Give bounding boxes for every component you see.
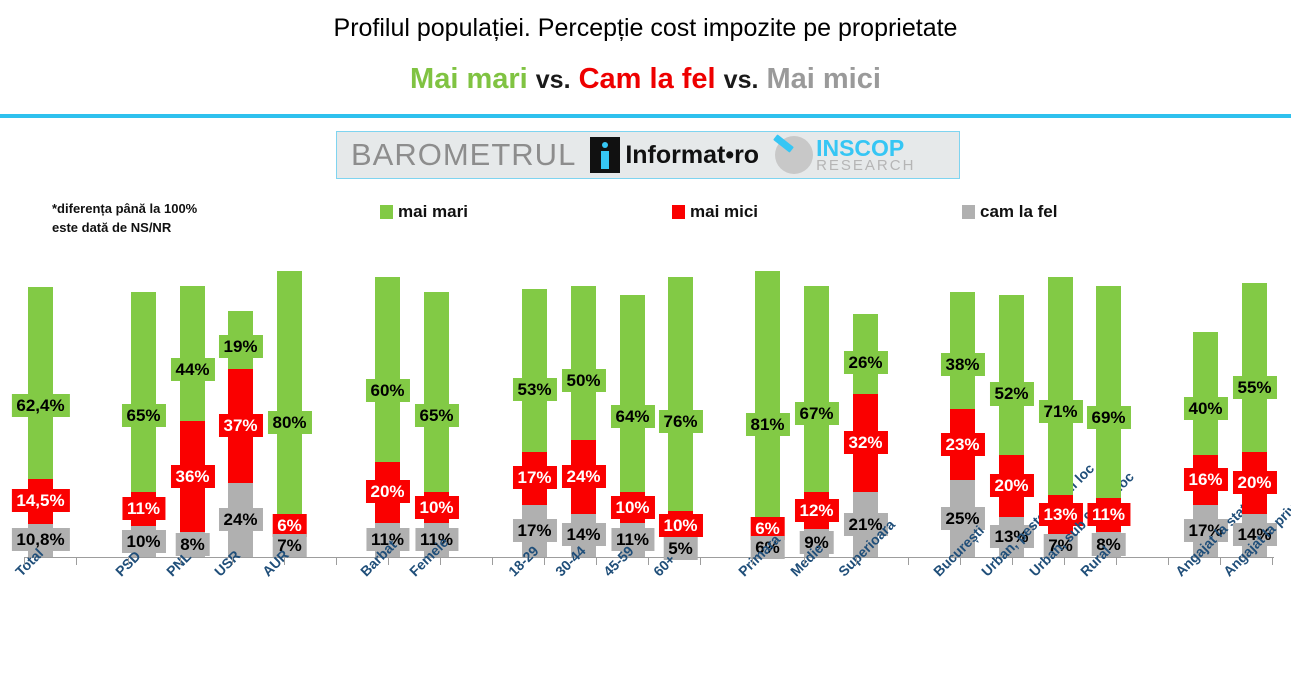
x-axis-label-rural: Rural [1077,543,1114,580]
bar-segment-mai-mari [277,271,302,517]
bar-segment-mai-mari [424,292,449,492]
bar-label-mai-mari: 81% [745,413,789,436]
bar-segment-mai-mari [131,292,156,492]
x-axis-tick [24,557,25,565]
bar-label-mai-mici: 11% [122,497,165,520]
bar-label-mai-mici: 10% [658,514,702,537]
bar-label-cam-la-fel: 24% [218,508,262,531]
bar-segment-mai-mari [1242,283,1267,452]
bar-label-mai-mici: 20% [1232,471,1276,494]
bar-label-cam-la-fel: 10% [121,530,165,553]
bar-segment-mai-mari [1193,332,1218,455]
bar-label-mai-mari: 40% [1183,397,1227,420]
bar-label-mai-mici: 11% [1087,503,1130,526]
chart-plot-area: 62,4%14,5%10,8%Total65%11%10%PSD44%36%8%… [0,0,1291,700]
x-axis-tick [1012,557,1013,565]
bar-label-mai-mici: 12% [794,499,838,522]
x-axis-label-18-29: 18-29 [505,543,542,580]
bar-segment-mai-mari [620,295,645,492]
x-axis-tick [440,557,441,565]
x-axis-tick [128,557,129,565]
bar-label-mai-mari: 65% [414,404,458,427]
stacked-bar[interactable] [28,287,53,557]
bar-label-mai-mari: 71% [1038,400,1082,423]
bar-label-mai-mari: 44% [170,358,214,381]
x-axis-tick [700,557,701,565]
bar-segment-mai-mari [950,292,975,409]
bar-segment-mai-mari [375,277,400,462]
x-axis-tick [804,557,805,565]
x-axis-tick [856,557,857,565]
bar-label-mai-mari: 52% [989,382,1033,405]
x-axis-label-30-44: 30-44 [552,543,589,580]
bar-label-mai-mari: 60% [365,379,409,402]
bar-segment-mai-mari [522,289,547,452]
x-axis-tick [180,557,181,565]
bar-label-mai-mici: 20% [365,480,409,503]
bar-label-mai-mici: 16% [1183,468,1227,491]
x-axis-tick [544,557,545,565]
bar-segment-mai-mari [28,287,53,479]
x-axis-tick [1272,557,1273,565]
bar-label-mai-mici: 23% [940,433,984,456]
stacked-bar[interactable] [180,286,205,557]
bar-label-mai-mici: 36% [170,465,214,488]
x-axis-tick [752,557,753,565]
bar-label-mai-mici: 37% [218,414,262,437]
bar-label-mai-mari: 64% [610,405,654,428]
bar-label-mai-mari: 65% [121,404,165,427]
bar-label-mai-mari: 26% [843,351,887,374]
stacked-bar[interactable] [375,277,400,557]
bar-label-mai-mici: 24% [561,465,605,488]
x-axis-tick [596,557,597,565]
stacked-bar[interactable] [999,295,1024,557]
x-axis-tick [284,557,285,565]
x-axis-tick [336,557,337,565]
bar-segment-mai-mari [804,286,829,492]
bar-label-mai-mici: 20% [989,474,1033,497]
bar-label-mai-mari: 55% [1232,376,1276,399]
x-axis-tick [76,557,77,565]
bar-label-mai-mari: 53% [512,378,556,401]
stacked-bar[interactable] [1242,283,1267,557]
x-axis-tick [388,557,389,565]
bar-label-mai-mari: 80% [267,411,311,434]
x-axis-tick [1116,557,1117,565]
bar-label-mai-mari: 38% [940,353,984,376]
bar-segment-mai-mari [668,277,693,511]
bar-label-mai-mici: 32% [843,431,887,454]
bar-label-mai-mici: 17% [512,466,556,489]
bar-segment-mai-mari [1096,286,1121,499]
bar-label-mai-mari: 69% [1086,406,1130,429]
x-axis-tick [648,557,649,565]
bar-label-cam-la-fel: 17% [512,519,556,542]
bar-label-mai-mari: 62,4% [11,394,69,417]
bar-label-cam-la-fel: 14% [561,523,605,546]
stacked-bar[interactable] [522,289,547,557]
bar-label-cam-la-fel: 10,8% [11,528,69,551]
x-axis-label-45-59: 45-59 [600,543,637,580]
bar-label-mai-mari: 76% [658,410,702,433]
x-axis-tick [1220,557,1221,565]
x-axis-tick [1168,557,1169,565]
slide-root: Profilul populației. Percepție cost impo… [0,0,1291,700]
bar-label-mai-mici: 10% [414,496,458,519]
stacked-bar[interactable] [571,286,596,557]
bar-segment-mai-mari [755,271,780,520]
bar-label-mai-mari: 19% [218,335,262,358]
x-axis-tick [492,557,493,565]
bar-segment-mai-mari [1048,277,1073,496]
x-axis-tick [960,557,961,565]
bar-segment-mai-mari [180,286,205,422]
bar-label-mai-mici: 14,5% [11,489,69,512]
bar-label-mai-mici: 10% [610,496,654,519]
bar-label-mai-mari: 67% [794,402,838,425]
bar-segment-mai-mari [999,295,1024,455]
x-axis-tick [908,557,909,565]
bar-segment-mai-mari [571,286,596,440]
bar-label-cam-la-fel: 11% [611,528,654,551]
x-axis-tick [1064,557,1065,565]
bar-label-mai-mari: 50% [561,369,605,392]
x-axis-tick [232,557,233,565]
